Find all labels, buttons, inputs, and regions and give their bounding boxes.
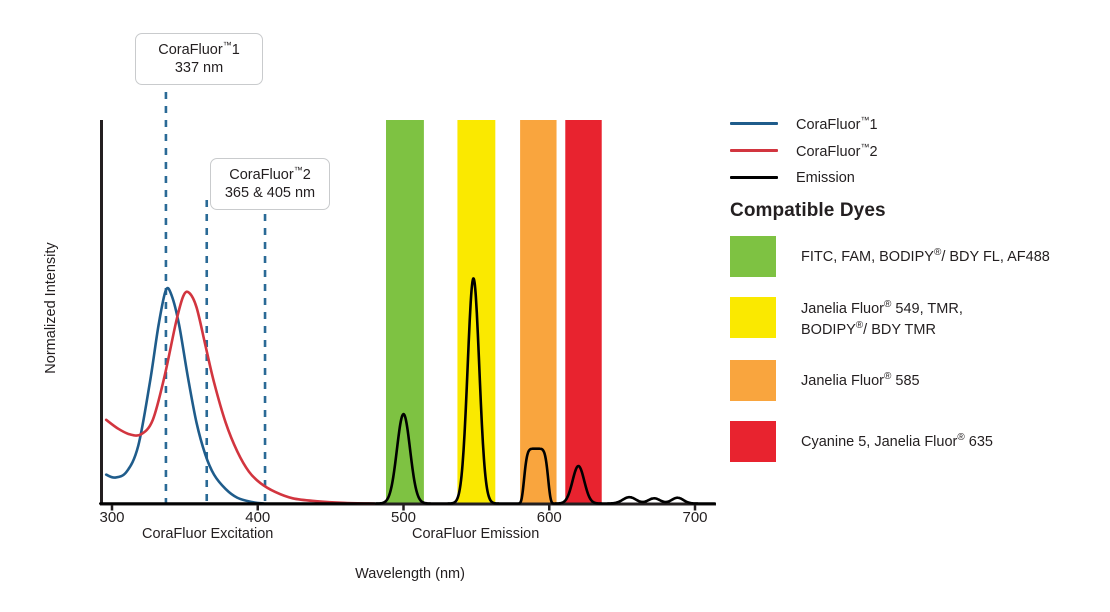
registered-symbol: ®: [934, 247, 941, 258]
legend-item: Emission: [730, 164, 1100, 191]
dye-band: [565, 120, 601, 504]
compatible-dyes-title: Compatible Dyes: [730, 200, 886, 222]
x-tick-label: 600: [519, 509, 579, 526]
callout-2-index: 2: [303, 167, 311, 183]
spectra-figure: CoraFluor™1 337 nm CoraFluor™2 365 & 405…: [0, 0, 1110, 612]
compatible-dyes-list: FITC, FAM, BODIPY®/ BDY FL, AF488Janelia…: [730, 236, 1102, 482]
dye-label-line: Cyanine 5, Janelia Fluor® 635: [801, 431, 993, 452]
legend-item: CoraFluor™2: [730, 137, 1100, 164]
registered-symbol: ®: [884, 299, 891, 310]
trademark-symbol: ™: [860, 142, 869, 152]
excitation-curve: [106, 288, 263, 503]
callout-corafluor-1: CoraFluor™1 337 nm: [135, 33, 263, 85]
dye-color-swatch: [730, 297, 776, 338]
dye-color-swatch: [730, 360, 776, 401]
dye-label: Cyanine 5, Janelia Fluor® 635: [801, 421, 993, 452]
trademark-symbol: ™: [294, 165, 303, 175]
dye-list-item: Cyanine 5, Janelia Fluor® 635: [730, 421, 1102, 462]
callout-1-index: 1: [232, 42, 240, 58]
dye-label: Janelia Fluor® 585: [801, 360, 920, 391]
dye-color-swatch: [730, 421, 776, 462]
dye-label-line: BODIPY®/ BDY TMR: [801, 319, 963, 340]
x-tick-label: 700: [665, 509, 725, 526]
x-tick-label: 300: [82, 509, 142, 526]
dye-list-item: Janelia Fluor® 585: [730, 360, 1102, 401]
x-tick-label: 500: [374, 509, 434, 526]
legend-item-label: CoraFluor™2: [796, 142, 878, 160]
legend-item-label: CoraFluor™1: [796, 115, 878, 133]
callout-corafluor-2: CoraFluor™2 365 & 405 nm: [210, 158, 330, 210]
dye-list-item: Janelia Fluor® 549, TMR,BODIPY®/ BDY TMR: [730, 297, 1102, 340]
dye-band: [520, 120, 556, 504]
dye-color-swatch: [730, 236, 776, 277]
legend-line-swatch: [730, 176, 778, 179]
legend-line-swatch: [730, 122, 778, 125]
x-axis-title: Wavelength (nm): [0, 566, 820, 582]
region-label-excitation: CoraFluor Excitation: [142, 526, 273, 542]
dye-bands: [386, 120, 602, 504]
legend-line-swatch: [730, 149, 778, 152]
dye-label: FITC, FAM, BODIPY®/ BDY FL, AF488: [801, 236, 1050, 267]
dye-label: Janelia Fluor® 549, TMR,BODIPY®/ BDY TMR: [801, 297, 963, 340]
callout-2-wavelength: 365 & 405 nm: [221, 185, 319, 203]
dye-label-line: Janelia Fluor® 549, TMR,: [801, 298, 963, 319]
dye-label-line: Janelia Fluor® 585: [801, 370, 920, 391]
x-tick-label: 400: [228, 509, 288, 526]
registered-symbol: ®: [884, 371, 891, 382]
callout-1-name: CoraFluor: [158, 42, 222, 58]
registered-symbol: ®: [957, 432, 964, 443]
excitation-marker-lines: [166, 92, 265, 504]
dye-label-line: FITC, FAM, BODIPY®/ BDY FL, AF488: [801, 246, 1050, 267]
legend-item-label: Emission: [796, 170, 855, 186]
trademark-symbol: ™: [860, 115, 869, 125]
trademark-symbol: ™: [223, 40, 232, 50]
dye-band: [386, 120, 424, 504]
callout-2-name: CoraFluor: [229, 167, 293, 183]
callout-1-wavelength: 337 nm: [146, 60, 252, 78]
y-axis-title: Normalized Intensity: [43, 218, 59, 398]
series-legend: CoraFluor™1CoraFluor™2Emission: [730, 110, 1100, 191]
registered-symbol: ®: [856, 320, 863, 331]
region-label-emission: CoraFluor Emission: [412, 526, 539, 542]
dye-list-item: FITC, FAM, BODIPY®/ BDY FL, AF488: [730, 236, 1102, 277]
legend-item: CoraFluor™1: [730, 110, 1100, 137]
